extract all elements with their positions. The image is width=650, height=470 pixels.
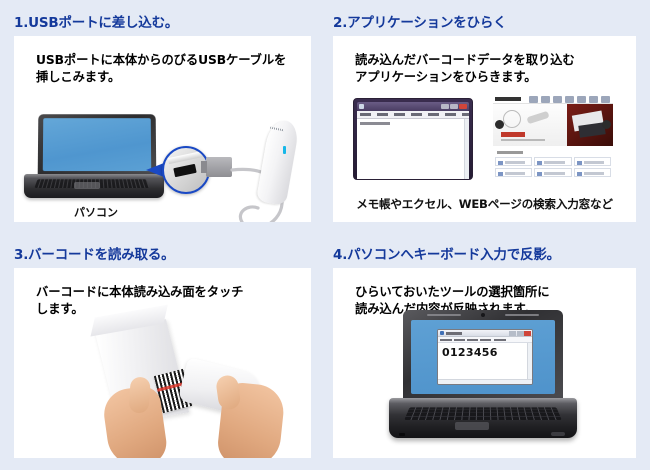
notepad-text-area bbox=[357, 119, 469, 179]
site-logo bbox=[495, 97, 521, 101]
notepad-scrollbar bbox=[464, 119, 469, 179]
laptop-lid: 0123456 bbox=[403, 310, 563, 402]
link-grid-item[interactable] bbox=[574, 168, 611, 177]
hero-device-image bbox=[526, 111, 549, 124]
link-grid-item[interactable] bbox=[495, 168, 532, 177]
nav-icon-2 bbox=[541, 96, 550, 103]
notepad-text-line bbox=[360, 122, 390, 125]
maximize-icon bbox=[450, 104, 458, 109]
nav-icon-1 bbox=[529, 96, 538, 103]
step-3-title: 3.バーコードを読み取る。 bbox=[14, 243, 174, 263]
laptop-screen: 0123456 bbox=[411, 320, 555, 394]
link-grid-item[interactable] bbox=[534, 157, 571, 166]
scanned-code-text: 0123456 bbox=[442, 346, 498, 359]
usb-port-slot bbox=[173, 164, 196, 177]
barcode-scanner-device bbox=[257, 120, 297, 204]
nav-icon-6 bbox=[589, 96, 598, 103]
cart-icon bbox=[601, 96, 610, 103]
step-panel-1: 1.USBポートに差し込む。 USBポートに本体からのびるUSBケーブルを 挿し… bbox=[0, 0, 325, 232]
step-1-illustration: パソコン bbox=[14, 36, 311, 222]
link-grid-heading bbox=[497, 151, 523, 154]
step-panel-3: 3.バーコードを読み取る。 バーコードに本体読み込み面をタッチ します。 bbox=[0, 232, 325, 470]
laptop-foot-left bbox=[399, 433, 405, 436]
laptop-touchpad bbox=[455, 422, 489, 430]
laptop-keyboard bbox=[404, 407, 562, 420]
notepad-scrollbar[interactable] bbox=[527, 343, 532, 379]
scanner-led-indicator bbox=[283, 146, 286, 154]
instruction-infographic: 1.USBポートに差し込む。 USBポートに本体からのびるUSBケーブルを 挿し… bbox=[0, 0, 650, 470]
step-2-card: 読み込んだバーコードデータを取り込む アプリケーションをひらきます。 bbox=[333, 36, 636, 222]
step-2-body: 読み込んだバーコードデータを取り込む アプリケーションをひらきます。 bbox=[355, 52, 575, 87]
notepad-window-title bbox=[446, 332, 462, 335]
hero-product-panel bbox=[493, 104, 567, 146]
laptop-port-right bbox=[551, 432, 565, 436]
laptop-base bbox=[24, 174, 164, 198]
nav-icon-3 bbox=[553, 96, 562, 103]
left-hand bbox=[101, 384, 169, 458]
notepad-statusbar bbox=[438, 379, 532, 384]
step-panel-2: 2.アプリケーションをひらく 読み込んだバーコードデータを取り込む アプリケーシ… bbox=[325, 0, 650, 232]
scanner-body bbox=[256, 118, 300, 206]
laptop-lid bbox=[38, 114, 157, 178]
laptop-label: パソコン bbox=[36, 204, 156, 220]
webpage-link-grid bbox=[493, 146, 613, 180]
laptop-base bbox=[389, 398, 577, 438]
notepad-app-icon bbox=[440, 331, 444, 335]
step-2-caption: メモ帳やエクセル、WEBページの検索入力窓など bbox=[333, 196, 636, 212]
laptop-illustration: 0123456 bbox=[389, 310, 577, 438]
step-1-title: 1.USBポートに差し込む。 bbox=[14, 11, 178, 31]
webpage-screenshot bbox=[493, 94, 613, 180]
lid-hinge-left bbox=[427, 314, 461, 316]
step-panel-4: 4.パソコンへキーボード入力で反影。 ひらいておいたツールの選択箇所に 読み込ん… bbox=[325, 232, 650, 470]
step-2-title: 2.アプリケーションをひらく bbox=[333, 11, 506, 31]
close-icon[interactable] bbox=[524, 331, 531, 336]
link-grid-row bbox=[495, 157, 611, 166]
step-4-card: ひらいておいたツールの選択箇所に 読み込んだ内容が反映されます。 bbox=[333, 268, 636, 458]
laptop-screen bbox=[43, 118, 151, 171]
nav-icon-4 bbox=[565, 96, 574, 103]
close-icon bbox=[459, 104, 467, 109]
webcam-icon bbox=[481, 313, 485, 317]
left-thumb bbox=[128, 376, 150, 413]
minimize-icon[interactable] bbox=[509, 331, 516, 336]
lid-hinge-right bbox=[505, 314, 539, 316]
laptop-touchpad bbox=[74, 182, 100, 189]
webpage-hero-banner bbox=[493, 104, 613, 146]
link-grid-item[interactable] bbox=[495, 157, 532, 166]
notepad-titlebar bbox=[357, 102, 469, 111]
step-4-title: 4.パソコンへキーボード入力で反影。 bbox=[333, 243, 560, 263]
hero-caption-text bbox=[501, 139, 545, 141]
link-grid-row bbox=[495, 168, 611, 177]
maximize-icon[interactable] bbox=[517, 331, 524, 336]
notepad-titlebar bbox=[438, 330, 532, 337]
notepad-window[interactable]: 0123456 bbox=[437, 329, 533, 385]
step-1-card: USBポートに本体からのびるUSBケーブルを 挿しこみます。 パソコン bbox=[14, 36, 311, 222]
link-grid-item[interactable] bbox=[534, 168, 571, 177]
nav-icon-5 bbox=[577, 96, 586, 103]
carousel-prev-icon[interactable] bbox=[495, 120, 504, 129]
notepad-app-icon bbox=[359, 104, 364, 109]
carousel-next-icon[interactable] bbox=[602, 120, 611, 129]
notepad-app-screenshot bbox=[353, 98, 473, 180]
minimize-icon bbox=[441, 104, 449, 109]
webpage-header bbox=[493, 94, 613, 104]
step-3-card: バーコードに本体読み込み面をタッチ します。 bbox=[14, 268, 311, 458]
hero-cta-button[interactable] bbox=[501, 132, 525, 137]
notepad-menubar[interactable] bbox=[438, 337, 532, 343]
hero-badge-icon bbox=[503, 110, 521, 128]
right-hand bbox=[216, 381, 286, 458]
link-grid-item[interactable] bbox=[574, 157, 611, 166]
notepad-menubar bbox=[357, 111, 469, 119]
laptop-illustration bbox=[24, 114, 164, 200]
